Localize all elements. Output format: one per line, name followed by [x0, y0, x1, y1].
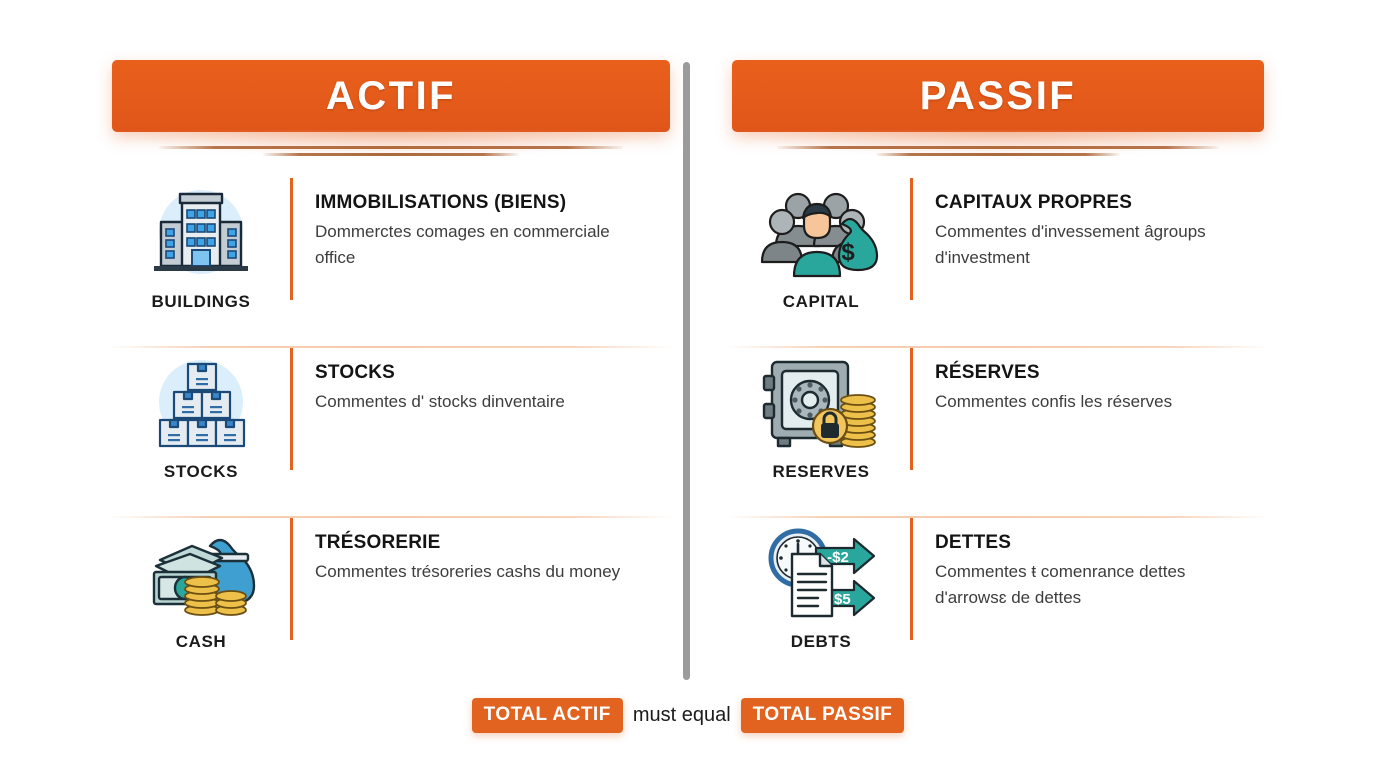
icon-caption-buildings: BUILDINGS — [152, 292, 251, 312]
total-actif-badge: TOTAL ACTIF — [472, 698, 623, 733]
total-passif-badge: TOTAL PASSIF — [741, 698, 905, 733]
item-desc-dettes: Commentes ŧ comenrance dettes d'arrowsɛ … — [935, 559, 1255, 612]
icon-caption-reserves: RESERVES — [772, 462, 869, 482]
passif-header-underline — [732, 146, 1264, 156]
item-desc-stocks: Commentes d' stocks dinventaire — [315, 389, 635, 415]
document-icon — [792, 554, 832, 616]
text-cell-capital: CAPITAUX PROPRES Commentes d'invessement… — [910, 178, 1264, 300]
item-desc-tresorerie: Commentes trésoreries cashs du money — [315, 559, 635, 585]
actif-row-buildings[interactable]: BUILDINGS IMMOBILISATIONS (BIENS) Dommer… — [112, 178, 670, 348]
item-desc-reserves: Commentes confis les réserves — [935, 389, 1255, 415]
item-title-dettes: DETTES — [935, 532, 1258, 554]
icon-cell-reserves: RESERVES — [732, 348, 910, 482]
stacked-boxes-icon — [138, 354, 264, 454]
clock-document-arrows-icon: -$2 +$5 — [758, 524, 884, 624]
padlock-badge-icon — [813, 409, 847, 443]
balance-equation-footer: TOTAL ACTIF must equal TOTAL PASSIF — [0, 698, 1376, 733]
infographic-canvas: ACTIF — [0, 0, 1376, 768]
passif-row-debts[interactable]: -$2 +$5 — [732, 518, 1264, 688]
passif-row-reserves[interactable]: RESERVES RÉSERVES Commentes confis les r… — [732, 348, 1264, 518]
actif-header-title: ACTIF — [326, 74, 456, 119]
passif-header-title: PASSIF — [920, 74, 1077, 119]
icon-cell-stocks: STOCKS — [112, 348, 290, 482]
item-title-tresorerie: TRÉSORERIE — [315, 532, 664, 554]
passif-rows: $ CAPITAL CAPITAUX PROPRES Commentes d'i… — [732, 178, 1264, 688]
actif-header-underline — [112, 146, 670, 156]
underline-short-left — [263, 153, 520, 156]
actif-header-banner: ACTIF — [112, 60, 670, 132]
item-title-reserves: RÉSERVES — [935, 362, 1258, 384]
underline-short-right — [876, 153, 1121, 156]
item-title-immobilisations: IMMOBILISATIONS (BIENS) — [315, 192, 664, 214]
text-cell-reserves: RÉSERVES Commentes confis les réserves — [910, 348, 1264, 470]
must-equal-text: must equal — [633, 704, 731, 727]
passif-row-capital[interactable]: $ CAPITAL CAPITAUX PROPRES Commentes d'i… — [732, 178, 1264, 348]
office-building-icon — [138, 184, 264, 284]
item-desc-capitaux-propres: Commentes d'invessement âgroups d'invest… — [935, 219, 1255, 272]
passif-column: PASSIF — [688, 0, 1376, 690]
actif-column: ACTIF — [0, 0, 688, 690]
safe-vault-coins-icon — [758, 354, 884, 454]
underline-long-left — [159, 146, 622, 149]
text-cell-stocks: STOCKS Commentes d' stocks dinventaire — [290, 348, 670, 470]
icon-caption-debts: DEBTS — [791, 632, 852, 652]
actif-row-stocks[interactable]: STOCKS STOCKS Commentes d' stocks dinven… — [112, 348, 670, 518]
people-group-money-bag-icon: $ — [758, 184, 884, 284]
icon-cell-buildings: BUILDINGS — [112, 178, 290, 312]
icon-caption-cash: CASH — [176, 632, 227, 652]
dollar-sign-glyph: $ — [841, 239, 855, 266]
actif-row-cash[interactable]: CASH TRÉSORERIE Commentes trésoreries ca… — [112, 518, 670, 688]
center-divider — [683, 62, 690, 680]
text-cell-debts: DETTES Commentes ŧ comenrance dettes d'a… — [910, 518, 1264, 640]
icon-cell-cash: CASH — [112, 518, 290, 652]
icon-caption-capital: CAPITAL — [783, 292, 860, 312]
actif-rows: BUILDINGS IMMOBILISATIONS (BIENS) Dommer… — [112, 178, 670, 688]
text-cell-buildings: IMMOBILISATIONS (BIENS) Dommerctes comag… — [290, 178, 670, 300]
icon-caption-stocks: STOCKS — [164, 462, 238, 482]
icon-cell-capital: $ CAPITAL — [732, 178, 910, 312]
passif-header-banner: PASSIF — [732, 60, 1264, 132]
item-title-stocks: STOCKS — [315, 362, 664, 384]
underline-long-right — [777, 146, 1219, 149]
item-desc-immobilisations: Dommerctes comages en commerciale office — [315, 219, 635, 272]
icon-cell-debts: -$2 +$5 — [732, 518, 910, 652]
cash-money-bag-icon — [138, 524, 264, 624]
item-title-capitaux-propres: CAPITAUX PROPRES — [935, 192, 1258, 214]
text-cell-cash: TRÉSORERIE Commentes trésoreries cashs d… — [290, 518, 670, 640]
